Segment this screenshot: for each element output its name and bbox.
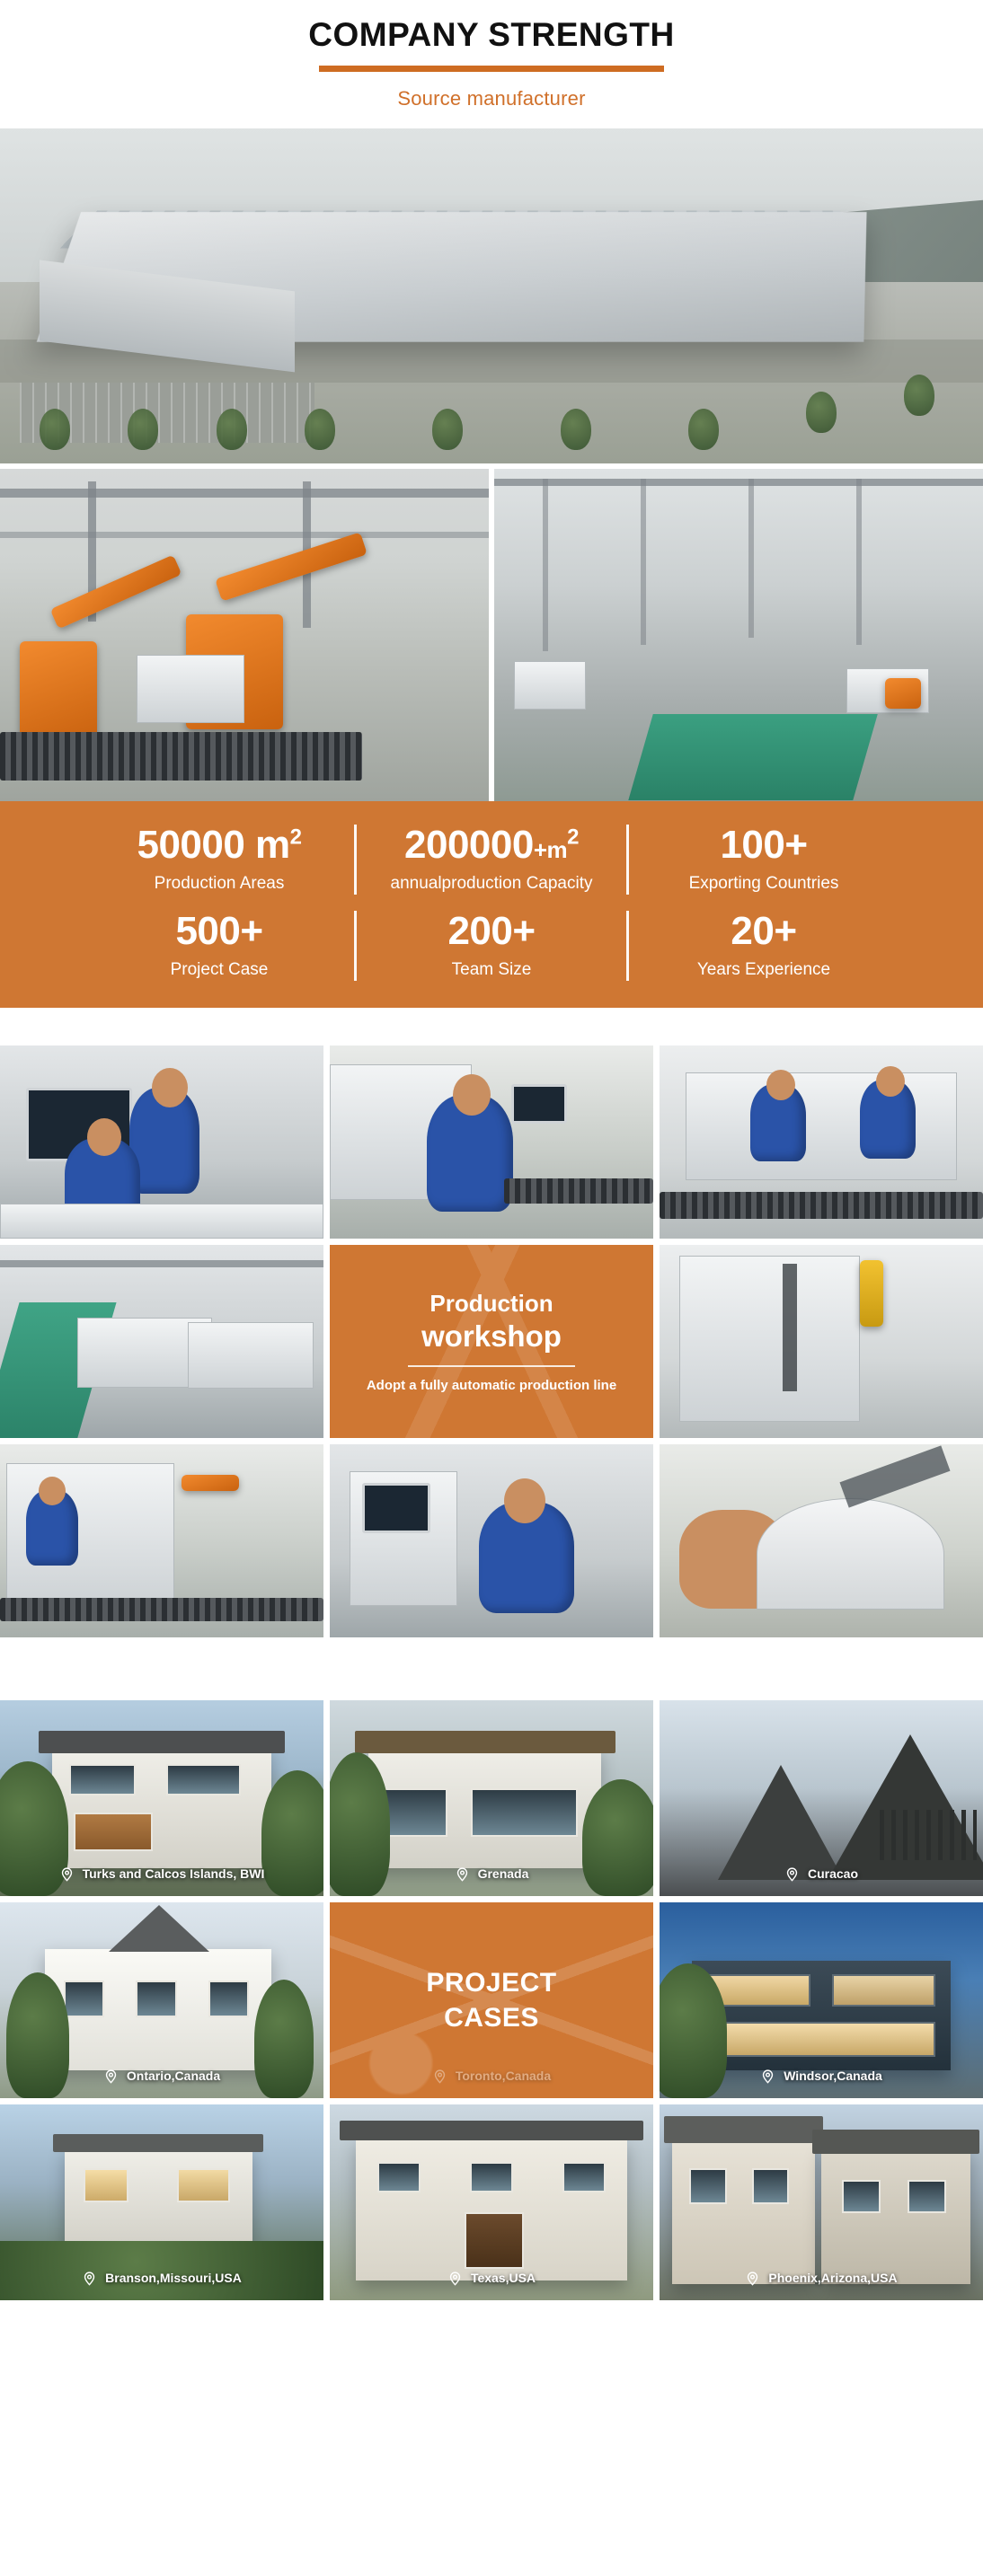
hero-tree — [561, 409, 591, 450]
location-text: Turks and Calcos Islands, BWI — [83, 1866, 265, 1881]
hero-factory-aerial-image — [0, 128, 983, 463]
house-roof — [664, 2116, 823, 2143]
stat-divider — [354, 911, 357, 981]
stat-production-areas: 50000 m2 Production Areas — [84, 825, 354, 893]
workshop-tile — [0, 1444, 323, 1637]
location-text: Texas,USA — [471, 2271, 536, 2285]
house-window — [832, 1974, 935, 2007]
project-case-tile[interactable]: Branson,Missouri,USA — [0, 2104, 323, 2300]
roof-rafter — [856, 479, 862, 645]
house-building — [692, 1961, 951, 2070]
workshop-card-title-line1: Production — [430, 1290, 553, 1318]
project-cases-card-title: PROJECT CASES — [426, 1965, 556, 2035]
stat-label: Years Experience — [629, 960, 899, 980]
green-epoxy-floor — [628, 714, 878, 800]
workshop-equipment — [514, 661, 586, 710]
location-text: Curacao — [808, 1866, 858, 1881]
location-text: Toronto,Canada — [456, 2069, 551, 2083]
stat-annual-capacity: 200000+m2 annualproduction Capacity — [357, 825, 626, 893]
stat-label: annualproduction Capacity — [357, 874, 626, 894]
stat-value: 200+ — [357, 911, 626, 952]
company-stats-banner: 50000 m2 Production Areas 200000+m2 annu… — [0, 801, 983, 1008]
house-window — [842, 2180, 881, 2213]
gantry-column — [783, 1264, 797, 1391]
house-door — [74, 1813, 153, 1851]
location-label: Curacao — [660, 1866, 983, 1882]
location-label: Phoenix,Arizona,USA — [660, 2271, 983, 2286]
stat-value: 500+ — [84, 911, 354, 952]
hero-tree — [432, 409, 463, 450]
house-building — [356, 2139, 627, 2280]
map-pin-icon — [432, 2069, 447, 2084]
metal-profile — [839, 1445, 950, 1507]
map-pin-icon — [455, 1866, 470, 1882]
house-building — [821, 2148, 970, 2285]
stats-row-2: 500+ Project Case 200+ Team Size 20+ Yea… — [0, 911, 983, 981]
factory-interior-row — [0, 469, 983, 801]
project-case-tile[interactable]: Texas,USA — [330, 2104, 653, 2300]
stat-superscript: 2 — [290, 825, 302, 850]
production-workshop-card: Production workshop Adopt a fully automa… — [330, 1245, 653, 1438]
stat-value: 50000 m2 — [84, 825, 354, 866]
house-roof — [340, 2121, 644, 2140]
stat-label: Team Size — [357, 960, 626, 980]
company-strength-page: COMPANY STRENGTH Source manufacturer — [0, 0, 983, 2300]
house-building — [672, 2135, 814, 2284]
house-roof — [355, 1731, 615, 1752]
roof-rafter — [543, 479, 548, 651]
gantry-frame — [679, 1256, 861, 1422]
cases-title-line2: CASES — [426, 2000, 556, 2035]
house-window — [208, 1981, 249, 2017]
location-text: Phoenix,Arizona,USA — [768, 2271, 897, 2285]
computer-monitor — [362, 1483, 430, 1533]
house-door — [465, 2212, 525, 2269]
house-window — [84, 2168, 128, 2201]
house-roof — [812, 2130, 979, 2154]
stat-exporting-countries: 100+ Exporting Countries — [629, 825, 899, 893]
house-window — [470, 2162, 513, 2193]
robot-arm-segment — [50, 555, 182, 630]
control-cabinet — [137, 655, 244, 723]
map-pin-icon — [784, 1866, 800, 1882]
project-case-tile[interactable]: Curacao — [660, 1700, 983, 1896]
workshop-card-separator — [408, 1365, 575, 1367]
house-window — [177, 2168, 229, 2201]
house-gable — [109, 1905, 209, 1952]
project-case-tile[interactable]: Grenada — [330, 1700, 653, 1896]
project-case-tile[interactable]: Windsor,Canada — [660, 1902, 983, 2098]
location-label: Texas,USA — [330, 2271, 653, 2286]
house-window — [383, 1788, 448, 1837]
hero-tree — [40, 409, 70, 450]
workshop-tile — [330, 1444, 653, 1637]
stat-value: 100+ — [629, 825, 899, 866]
conveyor-rollers — [504, 1178, 653, 1204]
house-roof — [39, 1731, 285, 1752]
project-cases-grid: Turks and Calcos Islands, BWI Grenada — [0, 1700, 983, 2300]
house-building — [52, 1747, 272, 1868]
section-spacer — [0, 1008, 983, 1045]
panel-line-machine — [686, 1072, 957, 1180]
stats-row-1: 50000 m2 Production Areas 200000+m2 annu… — [0, 825, 983, 895]
project-case-tile[interactable]: Phoenix,Arizona,USA — [660, 2104, 983, 2300]
house-window — [471, 1788, 578, 1837]
house-window — [69, 1764, 135, 1795]
conveyor-rollers — [0, 732, 362, 781]
worker-head — [453, 1074, 491, 1116]
stat-divider — [626, 825, 629, 895]
location-label: Windsor,Canada — [660, 2069, 983, 2084]
conveyor-rollers — [660, 1192, 983, 1219]
stat-superscript: 2 — [567, 825, 579, 850]
house-building — [368, 1747, 601, 1868]
hero-tree — [806, 392, 837, 433]
robot-arm-segment — [182, 1475, 239, 1491]
house-roof — [53, 2134, 263, 2152]
stat-team-size: 200+ Team Size — [357, 911, 626, 979]
house-building — [45, 1949, 271, 2070]
house-building — [65, 2148, 252, 2245]
production-workshop-grid: Production workshop Adopt a fully automa… — [0, 1045, 983, 1637]
title-underline-rule — [319, 66, 664, 72]
gantry-head — [860, 1260, 883, 1327]
house-window — [166, 1764, 241, 1795]
factory-robot-line-image — [0, 469, 489, 801]
workshop-tile — [660, 1045, 983, 1239]
map-pin-icon — [760, 2069, 775, 2084]
house-window — [377, 2162, 421, 2193]
location-label: Branson,Missouri,USA — [0, 2271, 323, 2286]
map-pin-icon — [59, 1866, 75, 1882]
map-pin-icon — [82, 2271, 97, 2286]
house-window — [136, 1981, 176, 2017]
project-case-tile[interactable]: Turks and Calcos Islands, BWI — [0, 1700, 323, 1896]
forklift — [885, 678, 921, 709]
stat-value: 20+ — [629, 911, 899, 952]
hero-tree — [904, 375, 934, 416]
stat-divider — [354, 825, 357, 895]
workshop-tile — [0, 1245, 323, 1438]
ceiling-beam — [0, 1260, 323, 1267]
pergola-slats — [880, 1810, 977, 1861]
workshop-card-description: Adopt a fully automatic production line — [367, 1378, 616, 1393]
robot-arm-segment — [216, 532, 368, 601]
house-window — [707, 2022, 934, 2057]
protractor-tool — [757, 1498, 944, 1610]
location-label: Turks and Calcos Islands, BWI — [0, 1866, 323, 1882]
stat-number: 50000 m — [137, 823, 289, 867]
stat-label: Project Case — [84, 960, 354, 980]
house-window — [908, 2180, 946, 2213]
roof-rafter — [641, 479, 646, 645]
stat-value: 200000+m2 — [357, 825, 626, 866]
location-label: Grenada — [330, 1866, 653, 1882]
conveyor-rollers — [0, 1598, 323, 1621]
stat-divider — [626, 911, 629, 981]
desk-surface — [0, 1204, 323, 1239]
workshop-tile — [0, 1045, 323, 1239]
map-pin-icon — [103, 2069, 119, 2084]
ceiling-truss — [494, 479, 983, 486]
stat-label: Production Areas — [84, 874, 354, 894]
location-label: Toronto,Canada — [330, 2069, 653, 2084]
workshop-tile — [660, 1444, 983, 1637]
page-title: COMPANY STRENGTH — [0, 16, 983, 55]
stat-years-experience: 20+ Years Experience — [629, 911, 899, 979]
roof-rafter — [748, 479, 754, 639]
section-spacer — [0, 1637, 983, 1700]
location-text: Windsor,Canada — [784, 2069, 882, 2083]
robot-arm — [20, 641, 97, 740]
cases-title-line1: PROJECT — [426, 1965, 556, 2000]
location-text: Ontario,Canada — [127, 2069, 220, 2083]
workshop-tile — [330, 1045, 653, 1239]
ceiling-beam — [0, 489, 489, 498]
hero-tree — [217, 409, 247, 450]
stat-number: 200000 — [404, 823, 534, 867]
house-window — [562, 2162, 606, 2193]
project-case-tile[interactable]: Ontario,Canada — [0, 1902, 323, 2098]
house-window — [689, 2168, 726, 2204]
page-subtitle: Source manufacturer — [0, 87, 983, 110]
house-window — [752, 2168, 789, 2204]
production-machine — [188, 1322, 314, 1389]
hero-tree — [305, 409, 335, 450]
stat-project-case: 500+ Project Case — [84, 911, 354, 979]
stat-label: Exporting Countries — [629, 874, 899, 894]
hero-tree — [128, 409, 158, 450]
gable-roof-shape — [718, 1765, 844, 1880]
stat-unit: +m — [534, 836, 567, 863]
page-header: COMPANY STRENGTH Source manufacturer — [0, 0, 983, 119]
location-text: Grenada — [478, 1866, 529, 1881]
project-cases-card: PROJECT CASES Toronto,Canada — [330, 1902, 653, 2098]
control-screen — [511, 1084, 567, 1124]
ceiling-beam — [0, 532, 489, 538]
hero-tree — [688, 409, 719, 450]
map-pin-icon — [447, 2271, 463, 2286]
map-pin-icon — [745, 2271, 760, 2286]
location-text: Branson,Missouri,USA — [105, 2271, 242, 2285]
workshop-card-title-line2: workshop — [421, 1319, 562, 1354]
house-window — [64, 1981, 104, 2017]
workshop-tile — [660, 1245, 983, 1438]
factory-hall-image — [494, 469, 983, 801]
location-label: Ontario,Canada — [0, 2069, 323, 2084]
